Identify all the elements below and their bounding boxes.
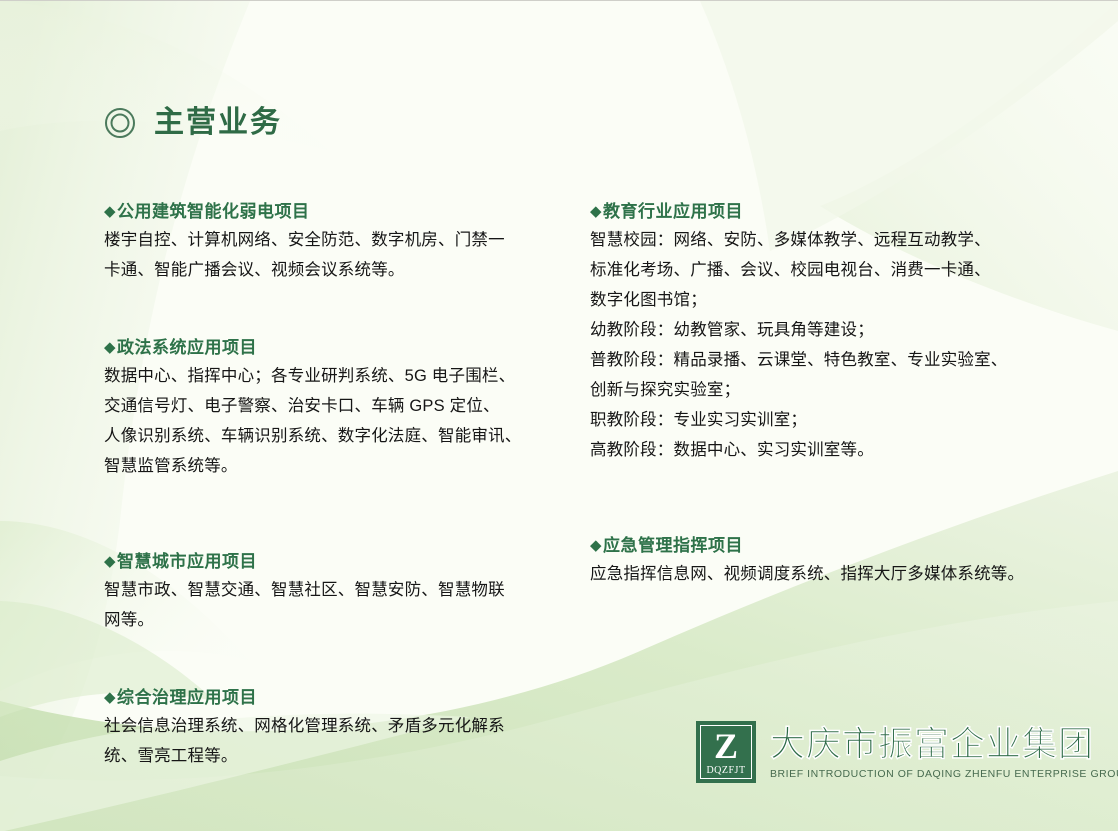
section-heading: ◆ 应急管理指挥项目 [590, 531, 1046, 556]
body-line: 卡通、智能广播会议、视频会议系统等。 [104, 255, 556, 285]
spacer [104, 485, 556, 547]
body-line: 交通信号灯、电子警察、治安卡口、车辆 GPS 定位、 [104, 391, 556, 421]
section-comprehensive-governance: ◆ 综合治理应用项目 社会信息治理系统、网格化管理系统、矛盾多元化解系 统、雪亮… [104, 683, 556, 771]
body-line: 网等。 [104, 605, 556, 635]
brochure-page: 主营业务 ◆ 公用建筑智能化弱电项目 楼宇自控、计算机网络、安全防范、数字机房、… [0, 0, 1118, 831]
body-line: 创新与探究实验室； [590, 375, 1046, 405]
section-body: 智慧市政、智慧交通、智慧社区、智慧安防、智慧物联 网等。 [104, 575, 556, 635]
diamond-bullet-icon: ◆ [590, 204, 602, 219]
section-body: 数据中心、指挥中心；各专业研判系统、5G 电子围栏、 交通信号灯、电子警察、治安… [104, 361, 556, 481]
spacer [104, 289, 556, 333]
page-title-block: 主营业务 [104, 107, 282, 139]
body-line: 社会信息治理系统、网格化管理系统、矛盾多元化解系 [104, 711, 556, 741]
section-heading: ◆ 智慧城市应用项目 [104, 547, 556, 572]
section-body: 楼宇自控、计算机网络、安全防范、数字机房、门禁一 卡通、智能广播会议、视频会议系… [104, 225, 556, 285]
body-line: 楼宇自控、计算机网络、安全防范、数字机房、门禁一 [104, 225, 556, 255]
section-heading-label: 综合治理应用项目 [117, 683, 257, 708]
body-line: 普教阶段：精品录播、云课堂、特色教室、专业实验室、 [590, 345, 1046, 375]
logo-text-block: 大庆市振富企业集团 BRIEF INTRODUCTION OF DAQING Z… [770, 721, 1118, 781]
body-line: 幼教阶段：幼教管家、玩具角等建设； [590, 315, 1046, 345]
company-name-en: BRIEF INTRODUCTION OF DAQING ZHENFU ENTE… [770, 767, 1118, 781]
logo-mark-icon: Z DQZFJT [696, 721, 756, 783]
left-column: ◆ 公用建筑智能化弱电项目 楼宇自控、计算机网络、安全防范、数字机房、门禁一 卡… [104, 197, 556, 775]
logo-letter: Z [714, 726, 738, 766]
section-heading-label: 公用建筑智能化弱电项目 [117, 197, 310, 222]
diamond-bullet-icon: ◆ [590, 538, 602, 553]
double-circle-icon [104, 107, 136, 139]
section-body: 社会信息治理系统、网格化管理系统、矛盾多元化解系 统、雪亮工程等。 [104, 711, 556, 771]
company-logo: Z DQZFJT 大庆市振富企业集团 BRIEF INTRODUCTION OF… [696, 721, 1118, 783]
section-heading: ◆ 政法系统应用项目 [104, 333, 556, 358]
section-heading: ◆ 综合治理应用项目 [104, 683, 556, 708]
body-line: 人像识别系统、车辆识别系统、数字化法庭、智能审讯、 [104, 421, 556, 451]
body-line: 智慧校园：网络、安防、多媒体教学、远程互动教学、 [590, 225, 1046, 255]
body-line: 应急指挥信息网、视频调度系统、指挥大厅多媒体系统等。 [590, 559, 1046, 589]
section-body: 应急指挥信息网、视频调度系统、指挥大厅多媒体系统等。 [590, 559, 1046, 589]
section-education: ◆ 教育行业应用项目 智慧校园：网络、安防、多媒体教学、远程互动教学、 标准化考… [590, 197, 1046, 465]
page-title: 主营业务 [154, 108, 282, 138]
diamond-bullet-icon: ◆ [104, 690, 116, 705]
body-line: 统、雪亮工程等。 [104, 741, 556, 771]
section-heading-label: 政法系统应用项目 [117, 333, 257, 358]
section-heading-label: 智慧城市应用项目 [117, 547, 257, 572]
right-column: ◆ 教育行业应用项目 智慧校园：网络、安防、多媒体教学、远程互动教学、 标准化考… [590, 197, 1046, 593]
body-line: 智慧市政、智慧交通、智慧社区、智慧安防、智慧物联 [104, 575, 556, 605]
body-line: 数据中心、指挥中心；各专业研判系统、5G 电子围栏、 [104, 361, 556, 391]
section-public-building: ◆ 公用建筑智能化弱电项目 楼宇自控、计算机网络、安全防范、数字机房、门禁一 卡… [104, 197, 556, 285]
section-political-legal: ◆ 政法系统应用项目 数据中心、指挥中心；各专业研判系统、5G 电子围栏、 交通… [104, 333, 556, 481]
body-line: 数字化图书馆； [590, 285, 1046, 315]
section-heading-label: 应急管理指挥项目 [603, 531, 743, 556]
body-line: 标准化考场、广播、会议、校园电视台、消费一卡通、 [590, 255, 1046, 285]
diamond-bullet-icon: ◆ [104, 340, 116, 355]
section-heading-label: 教育行业应用项目 [603, 197, 743, 222]
section-smart-city: ◆ 智慧城市应用项目 智慧市政、智慧交通、智慧社区、智慧安防、智慧物联 网等。 [104, 547, 556, 635]
section-emergency-management: ◆ 应急管理指挥项目 应急指挥信息网、视频调度系统、指挥大厅多媒体系统等。 [590, 531, 1046, 589]
body-line: 高教阶段：数据中心、实习实训室等。 [590, 435, 1046, 465]
body-line: 智慧监管系统等。 [104, 451, 556, 481]
spacer [590, 469, 1046, 531]
logo-abbreviation: DQZFJT [706, 765, 745, 776]
company-name-cn: 大庆市振富企业集团 [770, 725, 1118, 765]
section-heading: ◆ 教育行业应用项目 [590, 197, 1046, 222]
diamond-bullet-icon: ◆ [104, 204, 116, 219]
spacer [104, 639, 556, 683]
section-heading: ◆ 公用建筑智能化弱电项目 [104, 197, 556, 222]
section-body: 智慧校园：网络、安防、多媒体教学、远程互动教学、 标准化考场、广播、会议、校园电… [590, 225, 1046, 465]
diamond-bullet-icon: ◆ [104, 554, 116, 569]
body-line: 职教阶段：专业实习实训室； [590, 405, 1046, 435]
